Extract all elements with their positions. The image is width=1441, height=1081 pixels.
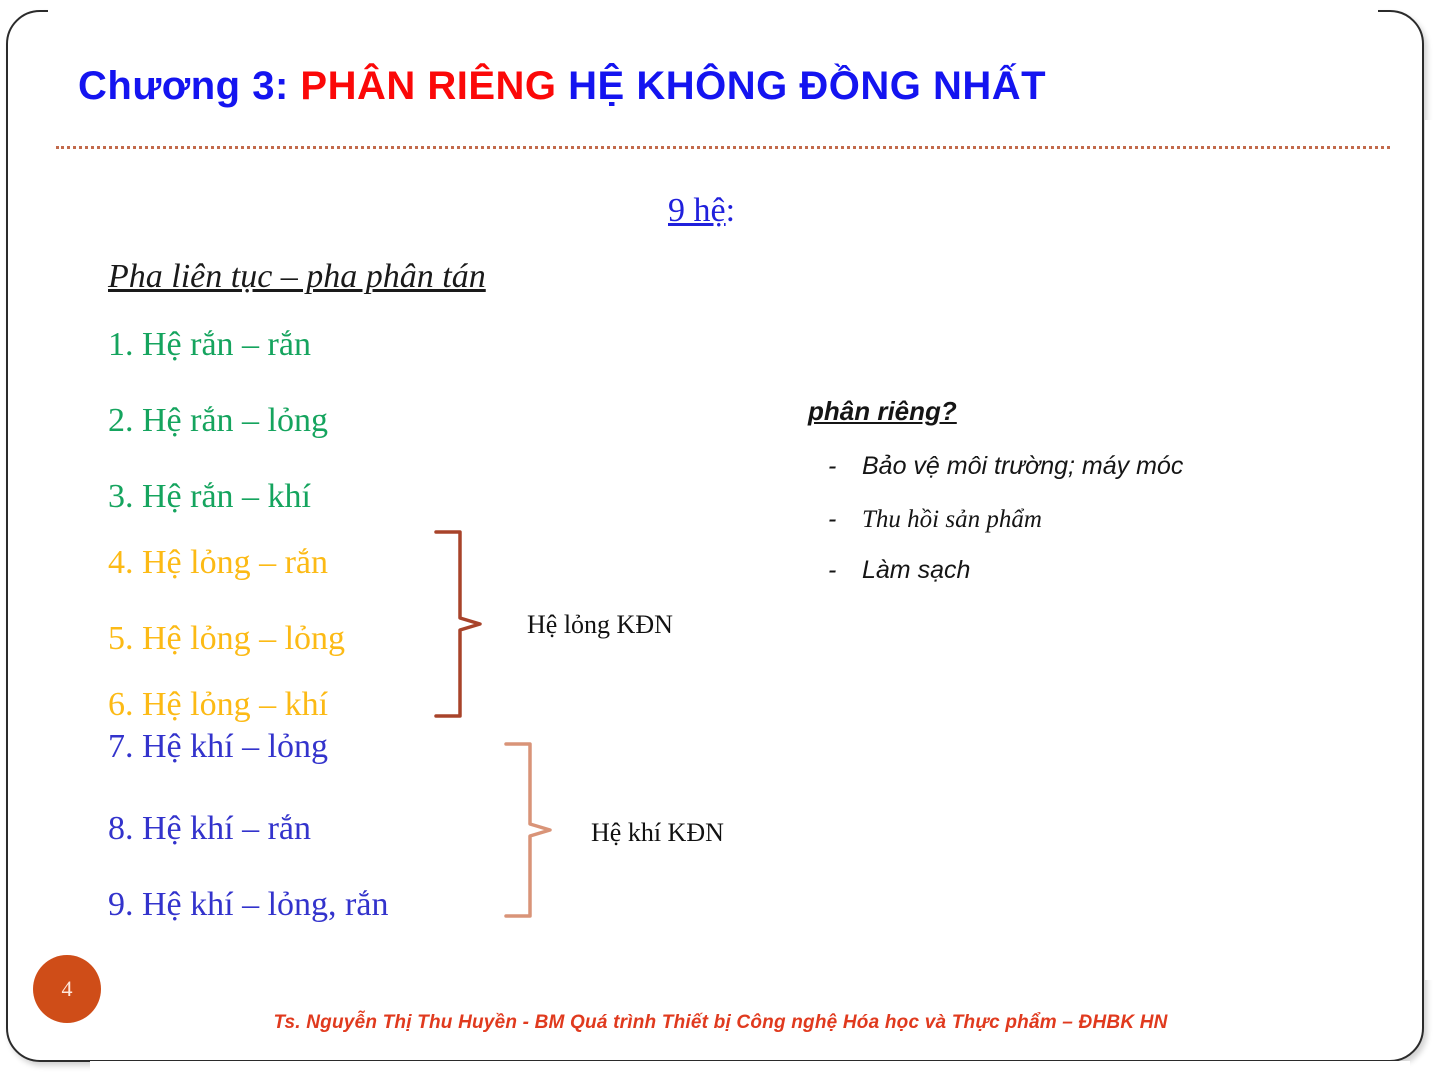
right-panel-bullet: -Làm sạch — [828, 556, 970, 585]
brace-gas-group — [500, 740, 560, 920]
list-item: 6. Hệ lỏng – khí — [108, 688, 328, 722]
list-item: 2. Hệ rắn – lỏng — [108, 404, 328, 438]
frame-mask-bottom — [90, 1061, 1410, 1077]
slide-title: Chương 3: PHÂN RIÊNG HỆ KHÔNG ĐỒNG NHẤT — [78, 64, 1046, 108]
title-highlight: PHÂN RIÊNG — [300, 64, 556, 108]
right-panel-heading: phân riêng? — [808, 396, 957, 427]
list-item-number: 5. — [108, 620, 134, 657]
list-item-label: Hệ lỏng – rắn — [142, 544, 328, 581]
group-label-liquid: Hệ lỏng KĐN — [527, 610, 673, 640]
bullet-dash-icon: - — [828, 452, 862, 481]
list-item-number: 4. — [108, 544, 134, 581]
count-heading-underlined: 9 hệ — [668, 192, 726, 229]
list-item-label: Hệ lỏng – lỏng — [142, 620, 345, 657]
list-item: 3. Hệ rắn – khí — [108, 480, 311, 514]
list-item-number: 9. — [108, 886, 134, 923]
list-item-number: 8. — [108, 810, 134, 847]
bullet-label: Bảo vệ môi trường; máy móc — [862, 452, 1183, 480]
list-item-number: 6. — [108, 686, 134, 723]
list-item: 7. Hệ khí – lỏng — [108, 730, 328, 764]
slide-footer: Ts. Nguyễn Thị Thu Huyền - BM Quá trình … — [0, 1012, 1441, 1034]
title-divider — [56, 146, 1390, 149]
count-heading-suffix: : — [726, 192, 735, 229]
frame-mask-right — [1425, 120, 1439, 980]
group-label-gas: Hệ khí KĐN — [591, 818, 724, 848]
list-item-label: Hệ rắn – lỏng — [142, 402, 328, 439]
list-item-number: 3. — [108, 478, 134, 515]
list-item-number: 2. — [108, 402, 134, 439]
list-item-number: 1. — [108, 326, 134, 363]
slide-root: Chương 3: PHÂN RIÊNG HỆ KHÔNG ĐỒNG NHẤT … — [0, 0, 1441, 1081]
brace-liquid-group — [430, 528, 490, 720]
list-item: 9. Hệ khí – lỏng, rắn — [108, 888, 388, 922]
list-item: 8. Hệ khí – rắn — [108, 812, 311, 846]
list-item-label: Hệ khí – rắn — [142, 810, 311, 847]
list-item-label: Hệ rắn – rắn — [142, 326, 311, 363]
count-heading: 9 hệ: — [668, 192, 735, 230]
list-item-label: Hệ rắn – khí — [142, 478, 311, 515]
list-item: 4. Hệ lỏng – rắn — [108, 546, 328, 580]
title-rest: HỆ KHÔNG ĐỒNG NHẤT — [568, 64, 1046, 108]
bullet-dash-icon: - — [828, 556, 862, 585]
right-panel-bullet: -Bảo vệ môi trường; máy móc — [828, 452, 1183, 481]
list-item-label: Hệ khí – lỏng — [142, 728, 328, 765]
list-item: 1. Hệ rắn – rắn — [108, 328, 311, 362]
bullet-label: Làm sạch — [862, 556, 970, 584]
page-number-label: 4 — [62, 976, 73, 1002]
list-item-number: 7. — [108, 728, 134, 765]
bullet-dash-icon: - — [828, 505, 862, 534]
right-panel-bullet: -Thu hồi sản phẩm — [828, 505, 1042, 534]
title-chapter: Chương 3: — [78, 64, 289, 108]
list-item-label: Hệ khí – lỏng, rắn — [142, 886, 388, 923]
phase-heading: Pha liên tục – pha phân tán — [108, 258, 486, 296]
bullet-label: Thu hồi sản phẩm — [862, 506, 1042, 533]
frame-mask-top — [48, 4, 1378, 20]
list-item: 5. Hệ lỏng – lỏng — [108, 622, 345, 656]
list-item-label: Hệ lỏng – khí — [142, 686, 328, 723]
